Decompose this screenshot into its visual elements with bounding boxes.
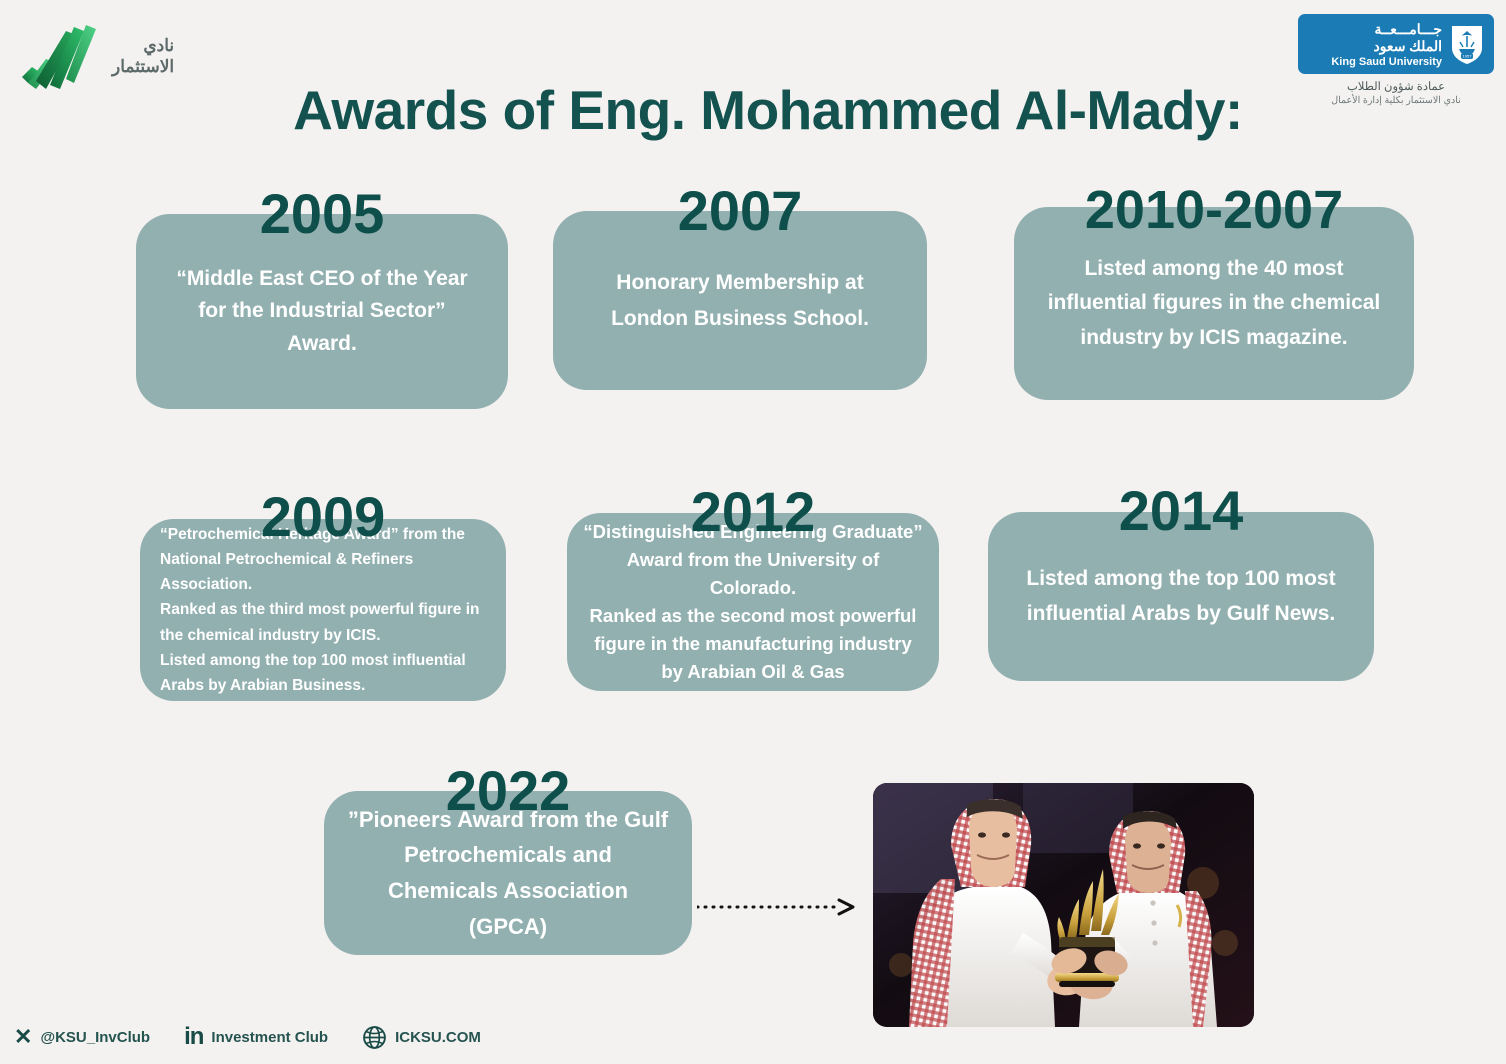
award-text-2022: ”Pioneers Award from the Gulf Petrochemi… <box>346 802 670 945</box>
award-year-2014: 2014 <box>988 483 1374 539</box>
footer-social-bar: ✕ @KSU_InvClub in Investment Club ICKSU.… <box>14 1020 481 1054</box>
footer-website-item[interactable]: ICKSU.COM <box>362 1025 481 1050</box>
award-entry-2022: 2022 ”Pioneers Award from the Gulf Petro… <box>324 763 692 955</box>
award-year-2009: 2009 <box>140 489 506 545</box>
award-text-2007: Honorary Membership at London Business S… <box>577 265 903 336</box>
award-entry-2012: 2012 “Distinguished Engineering Graduate… <box>567 484 939 691</box>
globe-icon <box>362 1025 387 1050</box>
footer-linkedin-item[interactable]: in Investment Club <box>184 1025 328 1049</box>
award-entry-2010-2007: 2010-2007 Listed among the 40 most influ… <box>1014 183 1414 400</box>
award-text-2014: Listed among the top 100 most influentia… <box>1014 562 1348 630</box>
footer-x-handle: @KSU_InvClub <box>40 1029 150 1046</box>
footer-linkedin-label: Investment Club <box>211 1029 328 1046</box>
ksu-name-arabic: جـــامـــعــة الملك سعود <box>1310 21 1442 55</box>
award-text-2010-2007: Listed among the 40 most influential fig… <box>1036 252 1392 354</box>
page-title: Awards of Eng. Mohammed Al-Mady: <box>0 78 1506 142</box>
award-text-2009-line2: Ranked as the third most powerful figure… <box>160 597 486 647</box>
award-entry-2007: 2007 Honorary Membership at London Busin… <box>553 183 927 390</box>
x-twitter-icon: ✕ <box>14 1026 32 1048</box>
award-year-2005: 2005 <box>136 186 508 242</box>
award-entry-2009: 2009 “Petrochemical Heritage Award” from… <box>140 489 506 701</box>
award-year-2012: 2012 <box>567 484 939 540</box>
club-name-arabic: نادي الاستثمار <box>112 36 174 77</box>
award-year-2007: 2007 <box>553 183 927 239</box>
footer-website-label: ICKSU.COM <box>395 1029 481 1046</box>
footer-x-item[interactable]: ✕ @KSU_InvClub <box>14 1026 150 1048</box>
svg-text:1957: 1957 <box>1463 54 1473 59</box>
award-text-2012-line2: Ranked as the second most powerful figur… <box>583 602 923 686</box>
award-ceremony-photo <box>873 783 1254 1027</box>
award-entry-2014: 2014 Listed among the top 100 most influ… <box>988 483 1374 681</box>
award-year-2022: 2022 <box>324 763 692 819</box>
ksu-name-english: King Saud University <box>1310 56 1442 68</box>
awards-infographic: نادي الاستثمار جـــامـــعــة الملك سعود … <box>0 0 1506 1064</box>
award-year-2010-2007: 2010-2007 <box>1014 183 1414 237</box>
ksu-badge: جـــامـــعــة الملك سعود King Saud Unive… <box>1298 14 1494 74</box>
award-text-2009-line3: Listed among the top 100 most influentia… <box>160 648 486 698</box>
dotted-arrow-right-icon <box>697 895 857 919</box>
award-entry-2005: 2005 “Middle East CEO of the Year for th… <box>136 186 508 409</box>
linkedin-icon: in <box>184 1025 203 1049</box>
ksu-shield-emblem-icon: 1957 <box>1450 23 1484 65</box>
award-text-2005: “Middle East CEO of the Year for the Ind… <box>162 263 482 361</box>
